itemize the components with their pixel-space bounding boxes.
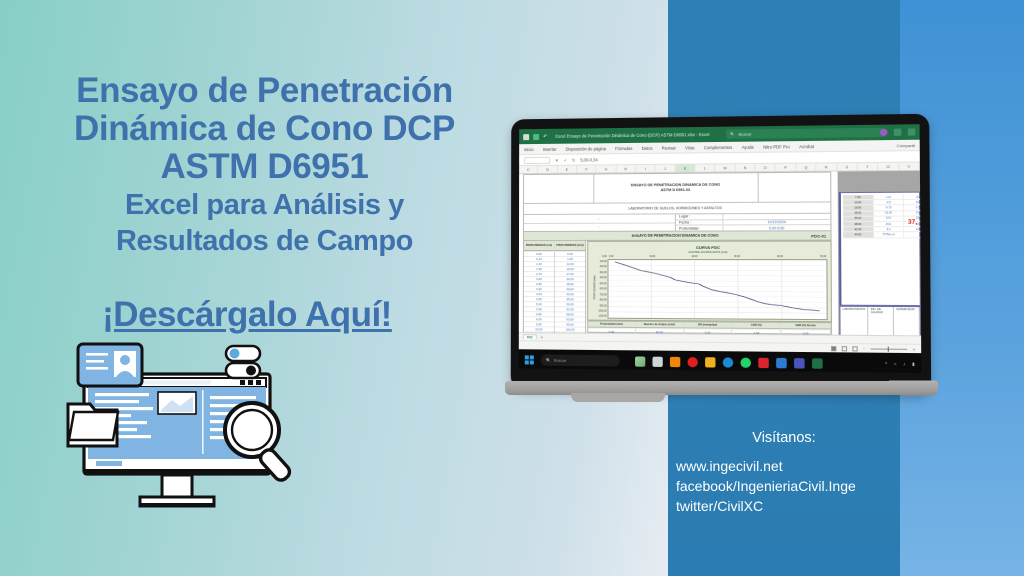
headline-line-2: Dinámica de Cono DCP xyxy=(12,110,517,148)
x-tick: 10,00 xyxy=(649,256,655,258)
whatsapp-icon[interactable] xyxy=(740,357,750,367)
formula-value: 5,00-0,34 xyxy=(580,157,597,162)
report-right-cell xyxy=(759,173,831,202)
num-cell: 7,00 xyxy=(843,195,874,199)
weather-icon[interactable] xyxy=(635,356,645,366)
sheet-tab-pdc[interactable]: PDC xyxy=(523,334,537,339)
report-title-cell: ENSAYO DE PENETRACION DINAMICA DE CONO A… xyxy=(594,173,758,202)
pdc-curve-chart: CURVA PDC GOLPES ACUMULADOS (und) PROFUN… xyxy=(587,241,832,323)
y-tick: 800,00 xyxy=(598,300,606,302)
report-lab-line: LABORATORIO DE SUELOS, HORMIGONES Y ASFA… xyxy=(524,201,830,215)
y-tick: 600,00 xyxy=(598,289,606,291)
num-cell: 19,00 xyxy=(904,211,921,215)
col-G[interactable]: G xyxy=(597,165,617,172)
results-col-4: CBR (%) Dcorte xyxy=(781,323,831,329)
opera-icon[interactable] xyxy=(687,357,697,367)
depth-table: PROFUNDIDAD (cm) 0,00 0,10 1,20 1,90 2,7… xyxy=(523,241,586,333)
laptop-lid: ↶ Excel Ensayo de Penetración Dinámica d… xyxy=(511,114,932,395)
num-cell: -0,75 xyxy=(874,206,905,210)
folder-icon[interactable] xyxy=(705,357,715,367)
report-right-fields: Lugar : Fecha : 10/12/2024 Profundidad : xyxy=(676,214,831,231)
y-tick: 0,00 xyxy=(598,256,606,258)
x-tick: 40,00 xyxy=(777,256,783,258)
num-cell: 15,0 xyxy=(874,222,905,226)
share-button[interactable]: Compartir xyxy=(897,142,916,147)
col-C[interactable]: C xyxy=(519,166,538,173)
chart-ylabel: PROFUNDIDAD (mm) xyxy=(591,256,598,319)
contact-twitter[interactable]: twitter/CivilXC xyxy=(668,496,900,516)
ribbon-tab-7[interactable]: Complementos xyxy=(704,144,733,149)
search-icon: 🔍 xyxy=(546,358,551,363)
x-tick: 0,00 xyxy=(609,256,614,258)
y-tick: 400,00 xyxy=(598,278,606,280)
subheadline-line-1: Excel para Análisis y xyxy=(12,189,517,222)
ribbon-tab-8[interactable]: Ayuda xyxy=(742,144,754,149)
report-section-band: ENSAYO DE PENETRACION DINAMICA DE CONO P… xyxy=(523,231,832,241)
pdc-curve-svg xyxy=(609,260,827,319)
headline-line-3: ASTM D6951 xyxy=(12,148,517,186)
report-logo-cell xyxy=(524,174,594,203)
battery-icon[interactable]: ▮ xyxy=(912,361,915,367)
window-controls[interactable] xyxy=(880,128,915,136)
ribbon-tab-2[interactable]: Disposición de página xyxy=(566,146,606,151)
col-R[interactable]: R xyxy=(817,163,838,170)
laptop-mockup: ↶ Excel Ensayo de Penetración Dinámica d… xyxy=(511,119,931,409)
num-cell: -2,0 xyxy=(874,200,905,204)
y-tick: 1000,00 xyxy=(598,311,606,313)
zoom-in-icon[interactable]: ＋ xyxy=(912,346,915,351)
cancel-icon[interactable]: ✕ xyxy=(555,157,558,162)
taskbar-search-placeholder: Buscar xyxy=(554,358,567,363)
zoom-out-icon[interactable]: − xyxy=(863,346,865,350)
chart-plot-area xyxy=(608,259,828,320)
cbr-highlight-value: 37, xyxy=(908,220,917,226)
num-cell: 9,0 xyxy=(874,227,905,231)
results-col-1: Numero de Golpes (und) xyxy=(636,322,684,327)
num-cell: 35,00 xyxy=(843,216,874,220)
taskbar-app-icons[interactable] xyxy=(635,356,823,368)
ribbon-tab-10[interactable]: Acrobat xyxy=(799,143,814,148)
left-numeric-grid: 7,00 +1,0 +0,10 10,00 -2,0 10,00 18,00 xyxy=(843,195,921,238)
results-col-3: CBR (%) xyxy=(732,323,781,328)
ribbon-tab-9[interactable]: Nitro PDF Pro xyxy=(763,144,790,149)
num-cell: 10,00 xyxy=(905,227,922,231)
y-tick: 200,00 xyxy=(598,267,606,269)
depth-column-cm: PROFUNDIDAD (cm) 0,00 0,10 1,20 1,90 2,7… xyxy=(524,241,554,332)
report-field-profundidad-key: Profundidad : xyxy=(676,226,724,231)
report-field-profundidad: Profundidad : 0,00-5,50 xyxy=(676,224,831,230)
subheadline-line-2: Resultados de Campo xyxy=(12,225,517,258)
undo-icon[interactable]: ↶ xyxy=(543,133,547,139)
contact-website[interactable]: www.ingecivil.net xyxy=(668,456,900,476)
num-cell: 17,00 xyxy=(904,205,921,209)
acrobat-icon[interactable] xyxy=(758,357,769,367)
col-J[interactable]: J xyxy=(656,165,676,172)
report-field-profundidad-value: 0,00-5,50 xyxy=(723,225,830,230)
report-title-line2: ASTM D 6951-03 xyxy=(661,188,690,193)
col-H[interactable]: H xyxy=(616,165,636,172)
excel-worksheet[interactable]: ENSAYO DE PENETRACION DINAMICA DE CONO A… xyxy=(519,171,921,336)
col-V[interactable]: V xyxy=(899,163,920,170)
num-cell: 12,0 xyxy=(874,216,905,220)
depth-header-mm: PROFUNDIDAD (mm) xyxy=(555,241,585,251)
report-dash-2: - xyxy=(524,222,675,231)
table-row: 44,00 TOTAL=0 xyxy=(843,232,921,238)
results-col-0: Profundidad (mm) xyxy=(588,322,636,327)
excel-search-placeholder: Buscar xyxy=(738,131,751,136)
report-band-label: ENSAYO DE PENETRACION DINAMICA DE CONO xyxy=(524,233,831,238)
footer-laboratorista: LABORATORISTA xyxy=(840,307,868,336)
col-U[interactable]: U xyxy=(878,163,899,170)
col-Q[interactable]: Q xyxy=(796,163,816,170)
num-cell: 10,00 xyxy=(904,200,921,205)
windows-start-icon[interactable] xyxy=(525,355,534,364)
footer-supervisor: SUPERVISOR xyxy=(894,307,920,335)
store-icon[interactable] xyxy=(776,357,787,367)
chart-subtitle: GOLPES ACUMULADOS (und) xyxy=(591,250,827,253)
windows-taskbar[interactable]: 🔍 Buscar xyxy=(519,349,922,373)
edge-icon[interactable] xyxy=(723,357,733,367)
confirm-icon[interactable]: ✓ xyxy=(564,157,567,162)
num-cell: 38,00 xyxy=(843,222,874,226)
col-N[interactable]: N xyxy=(736,164,756,171)
taskbar-system-tray[interactable]: ^ ⌁ ♪ ▮ xyxy=(885,361,915,368)
taskbar-search-box[interactable]: 🔍 Buscar xyxy=(541,355,620,367)
function-icon[interactable]: fx xyxy=(572,157,575,162)
laptop-notch xyxy=(571,393,665,402)
headline-line-1: Ensayo de Penetración xyxy=(12,72,517,110)
chart-title: CURVA PDC xyxy=(591,245,827,250)
account-avatar[interactable] xyxy=(880,129,888,136)
y-tick: 500,00 xyxy=(598,283,606,285)
col-E[interactable]: E xyxy=(558,166,577,173)
search-icon: 🔍 xyxy=(730,132,735,137)
num-cell: +1,0 xyxy=(874,195,905,200)
laptop-base xyxy=(505,381,938,396)
num-cell xyxy=(905,232,922,236)
y-tick: 300,00 xyxy=(598,272,606,274)
excel-document-title: Excel Ensayo de Penetración Dinámica de … xyxy=(555,132,709,139)
poster-headline: Ensayo de Penetración Dinámica de Cono D… xyxy=(12,72,517,258)
footer-ing-calidad: ING. DE CALIDAD xyxy=(869,307,895,335)
ribbon-tab-6[interactable]: Vista xyxy=(685,145,694,150)
report-band-code: PDC-01 xyxy=(811,233,826,238)
ribbon-tab-3[interactable]: Fórmulas xyxy=(615,145,632,150)
num-cell: +0,10 xyxy=(904,195,921,200)
excel-icon[interactable] xyxy=(812,358,823,368)
contact-facebook[interactable]: facebook/IngenieriaCivil.Inge xyxy=(668,476,900,496)
x-tick: 20,00 xyxy=(692,256,698,258)
signature-footer: LABORATORISTA ING. DE CALIDAD SUPERVISOR xyxy=(839,306,921,336)
col-D[interactable]: D xyxy=(538,166,557,173)
monitor-search-illustration xyxy=(62,340,332,520)
name-box[interactable] xyxy=(524,156,550,163)
zoom-slider[interactable] xyxy=(870,348,907,349)
col-T[interactable]: T xyxy=(858,163,879,170)
tray-expand-icon[interactable]: ^ xyxy=(885,361,887,366)
num-cell: 10,00 xyxy=(874,211,905,215)
x-tick: 50,00 xyxy=(820,256,826,258)
laptop-screen: ↶ Excel Ensayo de Penetración Dinámica d… xyxy=(519,124,922,373)
results-col-2: DN (mm/golpe) xyxy=(684,322,733,327)
ribbon-tab-5[interactable]: Revisar xyxy=(662,145,676,150)
num-cell: 10,00 xyxy=(843,200,874,204)
contact-block: Visítanos: www.ingecivil.net facebook/In… xyxy=(668,430,900,516)
depth-header-cm: PROFUNDIDAD (cm) xyxy=(524,241,554,251)
explorer-icon[interactable] xyxy=(652,356,662,366)
send-icon[interactable] xyxy=(533,134,539,140)
close-icon[interactable] xyxy=(908,128,916,135)
minimize-icon[interactable] xyxy=(894,129,902,136)
col-L[interactable]: L xyxy=(695,164,715,171)
add-sheet-icon[interactable]: ＋ xyxy=(540,334,543,339)
right-report-card: 7,00 +1,0 +0,10 10,00 -2,0 10,00 18,00 xyxy=(839,192,921,307)
col-M[interactable]: M xyxy=(715,164,735,171)
y-tick: 900,00 xyxy=(598,305,606,307)
save-icon[interactable] xyxy=(523,134,529,140)
view-normal-icon[interactable] xyxy=(831,346,836,351)
network-icon[interactable]: ⌁ xyxy=(894,361,897,367)
num-cell: 28,00 xyxy=(843,211,874,215)
num-cell: 41,00 xyxy=(843,227,874,231)
report-left-fields: - - xyxy=(524,214,676,231)
y-tick: 100,00 xyxy=(598,261,606,263)
chart-y-ticks: 0,00 100,00 200,00 300,00 400,00 500,00 … xyxy=(598,256,607,319)
poster-canvas: Ensayo de Penetración Dinámica de Cono D… xyxy=(0,0,1024,576)
col-F[interactable]: F xyxy=(577,165,597,172)
volume-icon[interactable]: ♪ xyxy=(903,361,905,366)
brave-icon[interactable] xyxy=(670,356,680,366)
view-pagelayout-icon[interactable] xyxy=(842,346,847,351)
y-tick: 1100,00 xyxy=(598,316,606,318)
ribbon-tab-1[interactable]: Insertar xyxy=(543,146,557,151)
report-header-block: ENSAYO DE PENETRACION DINAMICA DE CONO A… xyxy=(523,172,832,232)
teams-icon[interactable] xyxy=(794,358,805,368)
depth-column-mm: PROFUNDIDAD (mm) 0,00 1,00 12,00 19,00 2… xyxy=(554,241,585,332)
num-cell: 18,00 xyxy=(843,206,874,210)
col-S[interactable]: S xyxy=(837,163,858,170)
download-cta-link[interactable]: ¡Descárgalo Aquí! xyxy=(12,295,482,335)
results-table: Profundidad (mm) Numero de Golpes (und) … xyxy=(587,321,832,335)
col-O[interactable]: O xyxy=(756,164,776,171)
num-cell: 44,00 xyxy=(843,233,874,237)
col-P[interactable]: P xyxy=(776,164,796,171)
col-K[interactable]: K xyxy=(676,165,696,172)
ribbon-tab-0[interactable]: Inicio xyxy=(524,147,534,152)
num-cell: TOTAL=0 xyxy=(874,233,905,237)
ribbon-tab-4[interactable]: Datos xyxy=(642,145,653,150)
view-pagebreak-icon[interactable] xyxy=(852,346,857,351)
excel-search-box[interactable]: 🔍 Buscar xyxy=(726,128,884,139)
y-tick: 700,00 xyxy=(598,294,606,296)
col-I[interactable]: I xyxy=(636,165,656,172)
x-tick: 30,00 xyxy=(734,256,740,258)
contact-title: Visítanos: xyxy=(668,430,900,446)
